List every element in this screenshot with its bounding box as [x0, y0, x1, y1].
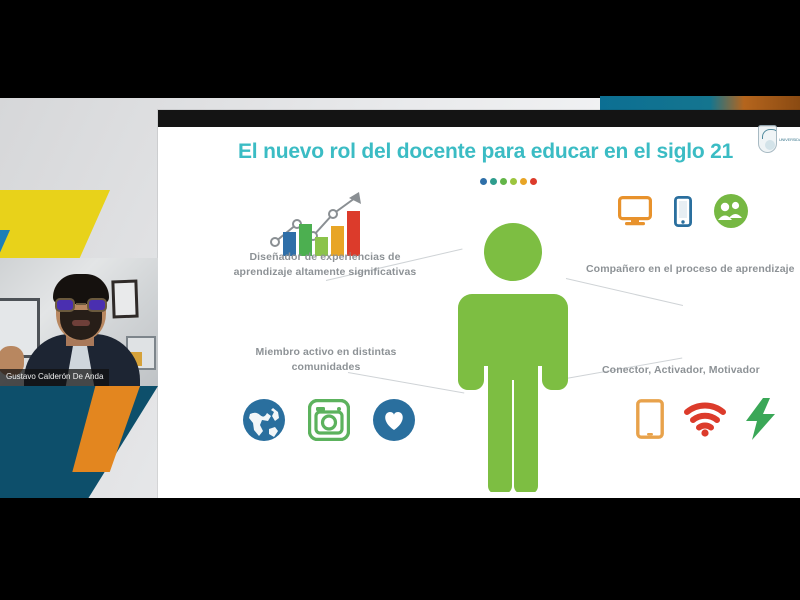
connector-line-companion: [566, 278, 683, 306]
wifi-icon: [684, 401, 726, 437]
label-community-line2: comunidades: [236, 360, 416, 375]
tablet-icon: [636, 399, 664, 439]
green-person-figure: [458, 220, 568, 492]
glasses-bridge: [76, 303, 86, 305]
dot-orange: [520, 178, 527, 185]
participant-name-label: Gustavo Calderón De Anda: [0, 369, 109, 386]
glasses-lens-left: [55, 298, 75, 312]
dot-blue: [480, 178, 487, 185]
slide-dot-row: [480, 178, 537, 185]
label-connector: Conector, Activador, Motivador: [602, 363, 800, 378]
participant-video-tile[interactable]: Gustavo Calderón De Anda: [0, 258, 158, 386]
shared-screen-region: UNIVERSIDAD El nuevo rol del docente par…: [0, 0, 800, 498]
label-companion: Compañero en el proceso de aprendizaje: [586, 262, 800, 277]
slide-title: El nuevo rol del docente para educar en …: [238, 140, 798, 164]
desktop-accent-band: [600, 96, 800, 110]
participant-glasses: [54, 298, 108, 312]
icon-group-bottom-right-tech: [636, 398, 776, 440]
instagram-icon: [308, 399, 350, 441]
globe-icon: [242, 398, 286, 442]
icon-group-bottom-left-social: [242, 398, 416, 442]
connector-line-community: [348, 372, 464, 393]
label-designer-line2: aprendizaje altamente significativas: [220, 265, 430, 280]
growth-bar-chart-icon: [263, 188, 381, 258]
video-background-picture-frame: [111, 280, 138, 319]
glasses-lens-right: [87, 298, 107, 312]
presentation-slide: UNIVERSIDAD El nuevo rol del docente par…: [158, 110, 800, 498]
smartphone-icon: [674, 196, 692, 227]
label-designer: Diseñador de experiencias de aprendizaje…: [220, 250, 430, 280]
dot-green: [500, 178, 507, 185]
label-community: Miembro activo en distintas comunidades: [236, 345, 416, 375]
dot-lightgreen: [510, 178, 517, 185]
icon-group-top-right-devices: [618, 194, 748, 228]
dot-red: [530, 178, 537, 185]
screen-share-stage: UNIVERSIDAD El nuevo rol del docente par…: [0, 0, 800, 600]
slide-top-bar: [158, 110, 800, 127]
dot-teal: [490, 178, 497, 185]
label-designer-line1: Diseñador de experiencias de: [220, 250, 430, 265]
label-community-line1: Miembro activo en distintas: [236, 345, 416, 360]
group-people-icon: [714, 194, 748, 228]
heart-icon: [372, 398, 416, 442]
lightning-bolt-icon: [746, 398, 776, 440]
participant-mouth: [72, 320, 90, 326]
label-companion-line1: Compañero en el proceso de aprendizaje: [586, 262, 800, 277]
monitor-icon: [618, 196, 652, 226]
label-connector-line1: Conector, Activador, Motivador: [602, 363, 800, 378]
